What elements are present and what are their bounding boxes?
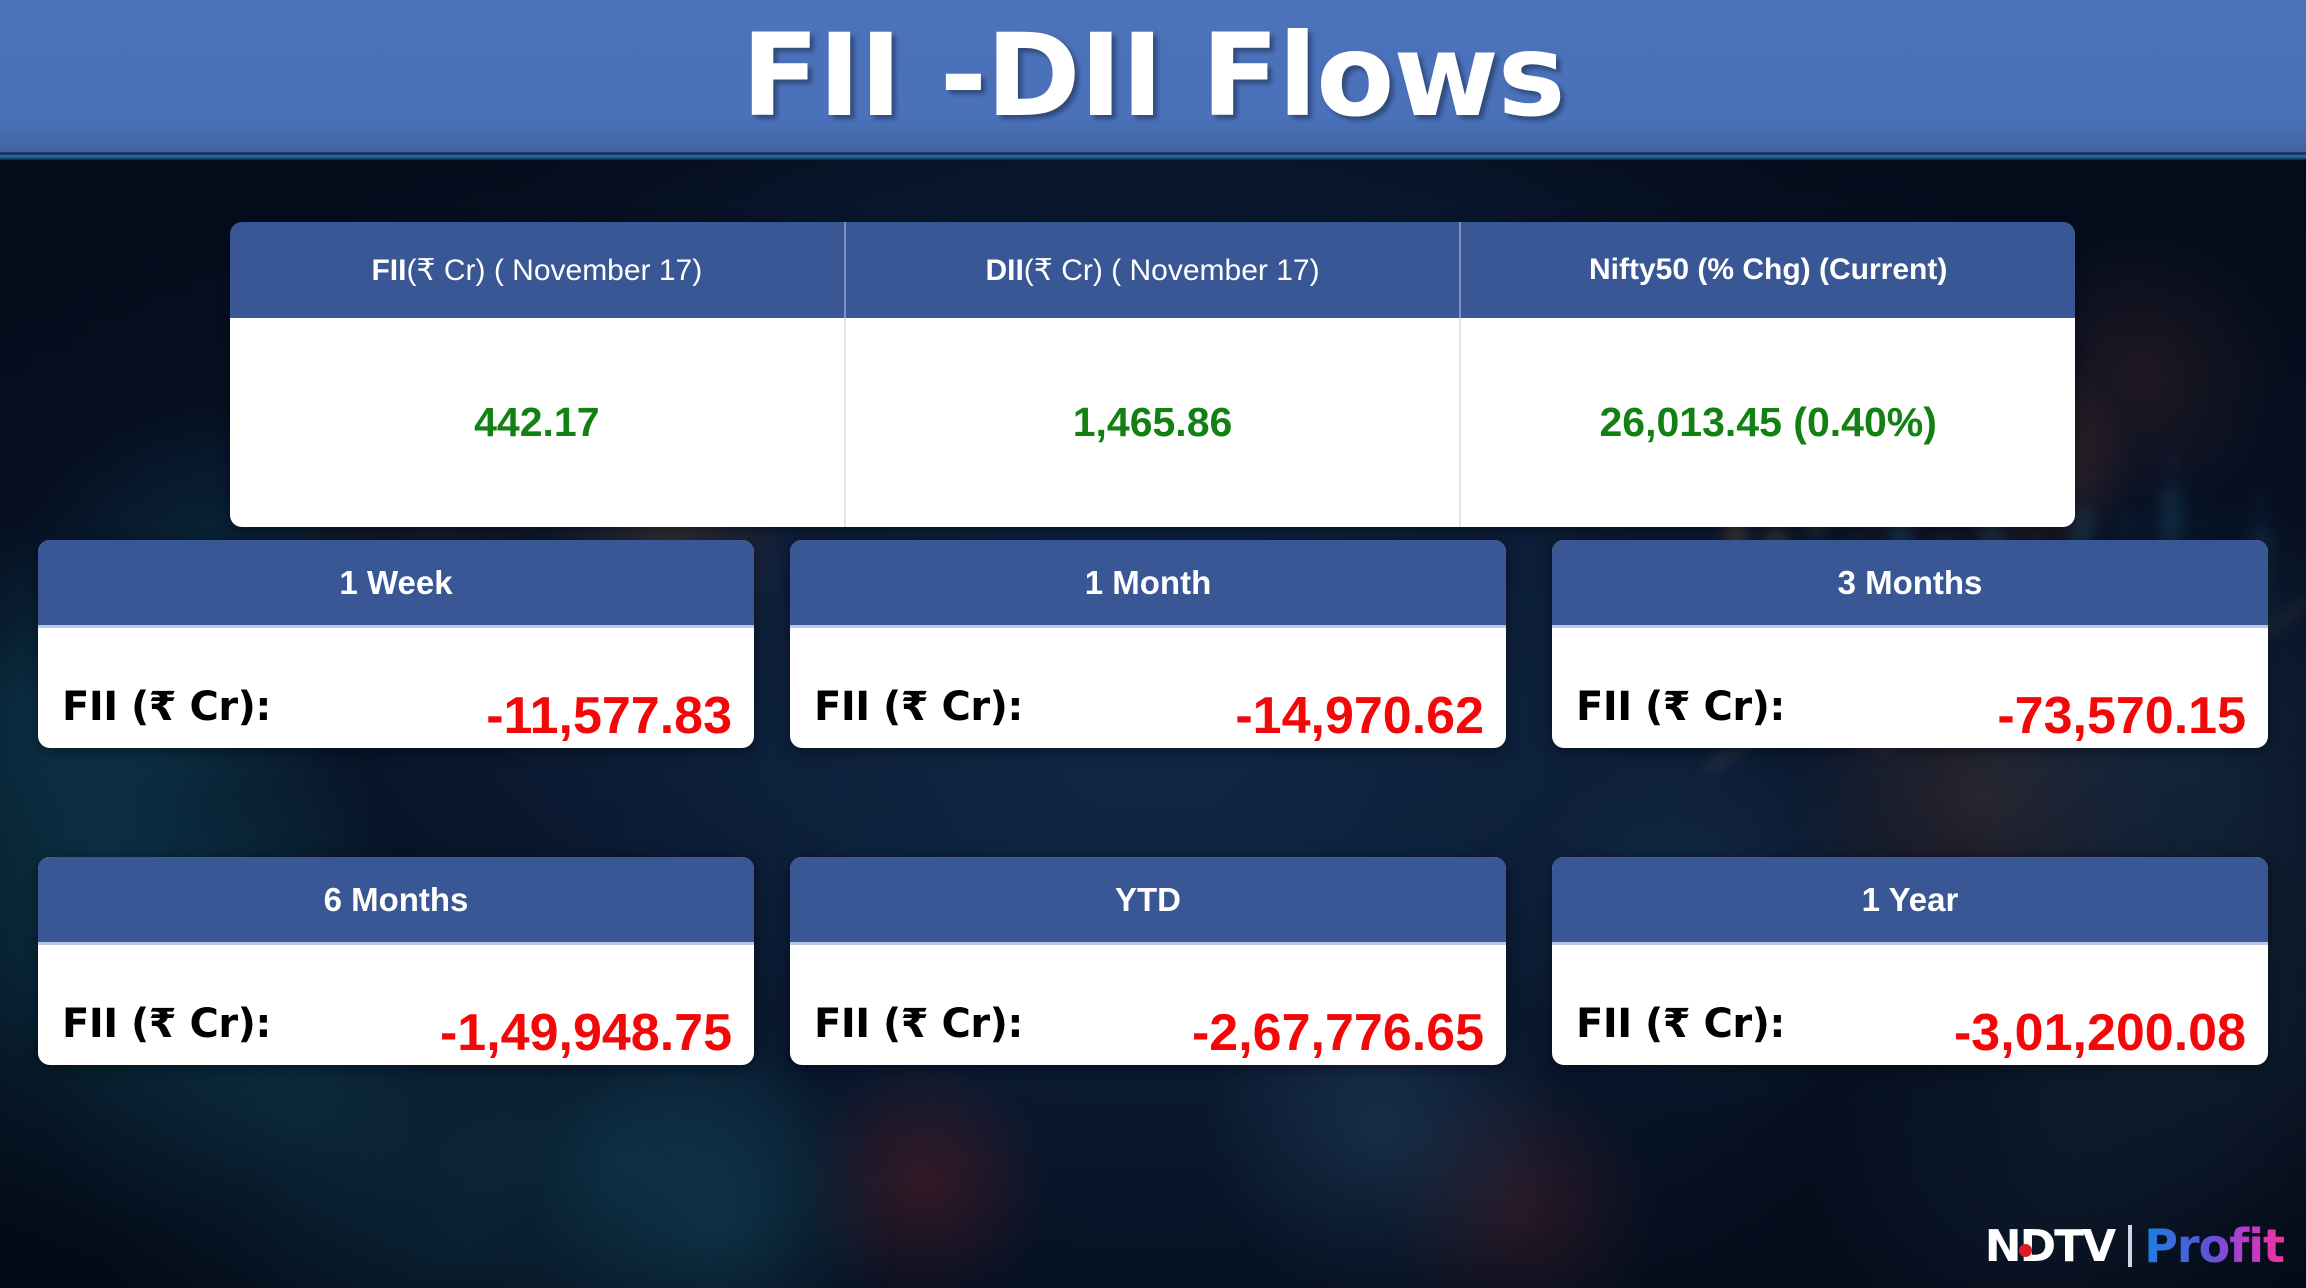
summary-value-nifty50: 26,013.45 (0.40%) (1459, 318, 2075, 527)
summary-header-dii: DII(₹ Cr) ( November 17) (844, 222, 1460, 318)
ndtv-wordmark: NDTV (1985, 1221, 2114, 1272)
summary-table-value-row: 442.17 1,465.86 26,013.45 (0.40%) (230, 318, 2075, 527)
period-card-title: 1 Year (1552, 857, 2268, 945)
ndtv-wordmark-text: NDTV (1985, 1221, 2114, 1272)
period-card-body: FII (₹ Cr): -73,570.15 (1552, 628, 2268, 748)
period-card-value: -73,570.15 (1997, 686, 2246, 746)
page-title: FII -DII Flows (0, 19, 2306, 133)
period-card-3-months: 3 Months FII (₹ Cr): -73,570.15 (1552, 540, 2268, 748)
period-card-title: 6 Months (38, 857, 754, 945)
period-card-value: -11,577.83 (486, 686, 732, 746)
period-card-value: -1,49,948.75 (440, 1003, 732, 1063)
ndtv-profit-logo: NDTV Profit (1985, 1218, 2284, 1274)
period-card-body: FII (₹ Cr): -3,01,200.08 (1552, 945, 2268, 1065)
period-card-title: 1 Month (790, 540, 1506, 628)
period-card-body: FII (₹ Cr): -2,67,776.65 (790, 945, 1506, 1065)
summary-header-nifty50-bold: Nifty50 (% Chg) (Current) (1589, 253, 1947, 286)
period-card-title: YTD (790, 857, 1506, 945)
summary-table-header-row: FII(₹ Cr) ( November 17) DII(₹ Cr) ( Nov… (230, 222, 2075, 318)
period-card-title: 3 Months (1552, 540, 2268, 628)
period-card-value: -14,970.62 (1235, 686, 1484, 746)
period-card-label: FII (₹ Cr): (814, 684, 1023, 730)
title-bar-underline (0, 155, 2306, 160)
summary-header-fii-bold: FII (371, 254, 406, 287)
period-card-label: FII (₹ Cr): (814, 1001, 1023, 1047)
profit-wordmark: Profit (2144, 1219, 2284, 1273)
summary-header-dii-rest: (₹ Cr) ( November 17) (1024, 254, 1320, 287)
period-card-6-months: 6 Months FII (₹ Cr): -1,49,948.75 (38, 857, 754, 1065)
period-card-1-week: 1 Week FII (₹ Cr): -11,577.83 (38, 540, 754, 748)
summary-header-nifty50: Nifty50 (% Chg) (Current) (1459, 222, 2075, 318)
period-card-label: FII (₹ Cr): (1576, 1001, 1785, 1047)
period-card-label: FII (₹ Cr): (62, 1001, 271, 1047)
summary-value-dii: 1,465.86 (844, 318, 1460, 527)
summary-value-fii: 442.17 (230, 318, 844, 527)
period-card-label: FII (₹ Cr): (62, 684, 271, 730)
summary-header-fii: FII(₹ Cr) ( November 17) (230, 222, 844, 318)
period-card-body: FII (₹ Cr): -1,49,948.75 (38, 945, 754, 1065)
page-title-bar: FII -DII Flows (0, 0, 2306, 155)
period-card-body: FII (₹ Cr): -11,577.83 (38, 628, 754, 748)
summary-header-dii-bold: DII (985, 254, 1023, 287)
period-card-value: -2,67,776.65 (1192, 1003, 1484, 1063)
summary-header-fii-rest: (₹ Cr) ( November 17) (406, 254, 702, 287)
ndtv-red-dot-icon (2019, 1244, 2032, 1257)
period-card-1-month: 1 Month FII (₹ Cr): -14,970.62 (790, 540, 1506, 748)
summary-table: FII(₹ Cr) ( November 17) DII(₹ Cr) ( Nov… (230, 222, 2075, 527)
period-card-value: -3,01,200.08 (1954, 1003, 2246, 1063)
period-card-body: FII (₹ Cr): -14,970.62 (790, 628, 1506, 748)
period-card-ytd: YTD FII (₹ Cr): -2,67,776.65 (790, 857, 1506, 1065)
fii-dii-flows-screen: FII -DII Flows FII(₹ Cr) ( November 17) … (0, 0, 2306, 1288)
period-card-title: 1 Week (38, 540, 754, 628)
logo-divider (2128, 1225, 2132, 1267)
period-card-1-year: 1 Year FII (₹ Cr): -3,01,200.08 (1552, 857, 2268, 1065)
period-card-label: FII (₹ Cr): (1576, 684, 1785, 730)
